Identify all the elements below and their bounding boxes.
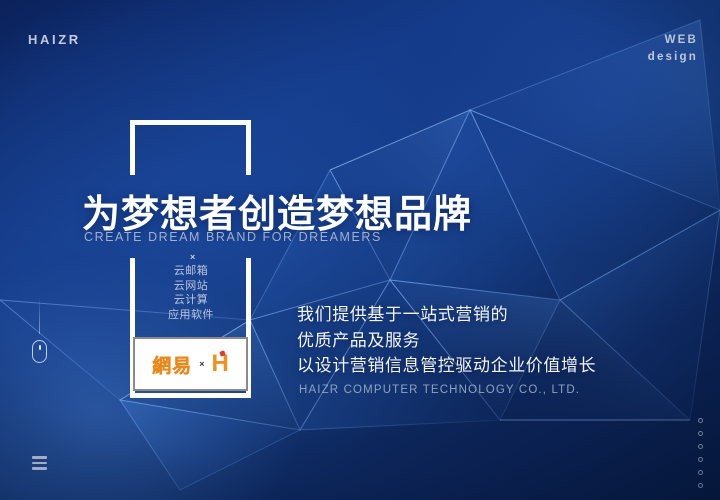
pagination-dot[interactable] <box>698 431 703 436</box>
pagination-dot[interactable] <box>698 457 703 462</box>
pagination-dot[interactable] <box>698 483 703 488</box>
logo-separator-icon: × <box>199 359 204 369</box>
cloud-service-list: 云邮箱 云网站 云计算 应用软件 <box>135 264 247 322</box>
web-design-label: WEB design <box>648 32 698 66</box>
list-item[interactable]: 应用软件 <box>135 308 247 323</box>
pagination-dot[interactable] <box>698 418 703 423</box>
haizr-h-logo: H <box>211 352 228 376</box>
list-item[interactable]: 云计算 <box>135 293 247 308</box>
hero-slide: HAIZR WEB design 为梦想者创造梦想品牌 CREATE DREAM… <box>0 0 720 500</box>
scroll-rail-line <box>39 296 40 334</box>
slide-pagination-dots[interactable] <box>698 418 703 488</box>
web-design-line2: design <box>648 49 698 66</box>
scroll-mouse-icon[interactable] <box>32 340 47 363</box>
cloud-menu-separator-icon: × <box>190 252 195 262</box>
frame-right-upper-edge <box>246 120 251 175</box>
pagination-dot[interactable] <box>698 444 703 449</box>
frame-top-edge <box>130 120 251 125</box>
pagination-dot[interactable] <box>698 470 703 475</box>
frame-left-upper-edge <box>130 120 135 175</box>
site-logo[interactable]: HAIZR <box>28 32 81 47</box>
background-polygon-art <box>0 0 720 500</box>
page-subtitle: CREATE DREAM BRAND FOR DREAMERS <box>84 230 382 244</box>
list-item[interactable]: 云网站 <box>135 279 247 294</box>
copy-line-2: 优质产品及服务 <box>297 329 596 355</box>
hamburger-menu-icon[interactable] <box>32 456 47 470</box>
netease-logo: 網易 <box>152 351 192 378</box>
copy-line-1: 我们提供基于一站式营销的 <box>297 303 596 329</box>
partnership-logo-card: 網易 × H <box>133 337 248 391</box>
frame-bottom-edge <box>130 393 251 398</box>
web-design-line1: WEB <box>648 32 698 49</box>
list-item[interactable]: 云邮箱 <box>135 264 247 279</box>
company-name-en: HAIZR COMPUTER TECHNOLOGY CO., LTD. <box>299 384 580 396</box>
copy-line-3: 以设计营销信息管控驱动企业价值增长 <box>297 354 596 380</box>
marketing-copy: 我们提供基于一站式营销的 优质产品及服务 以设计营销信息管控驱动企业价值增长 <box>297 303 596 380</box>
